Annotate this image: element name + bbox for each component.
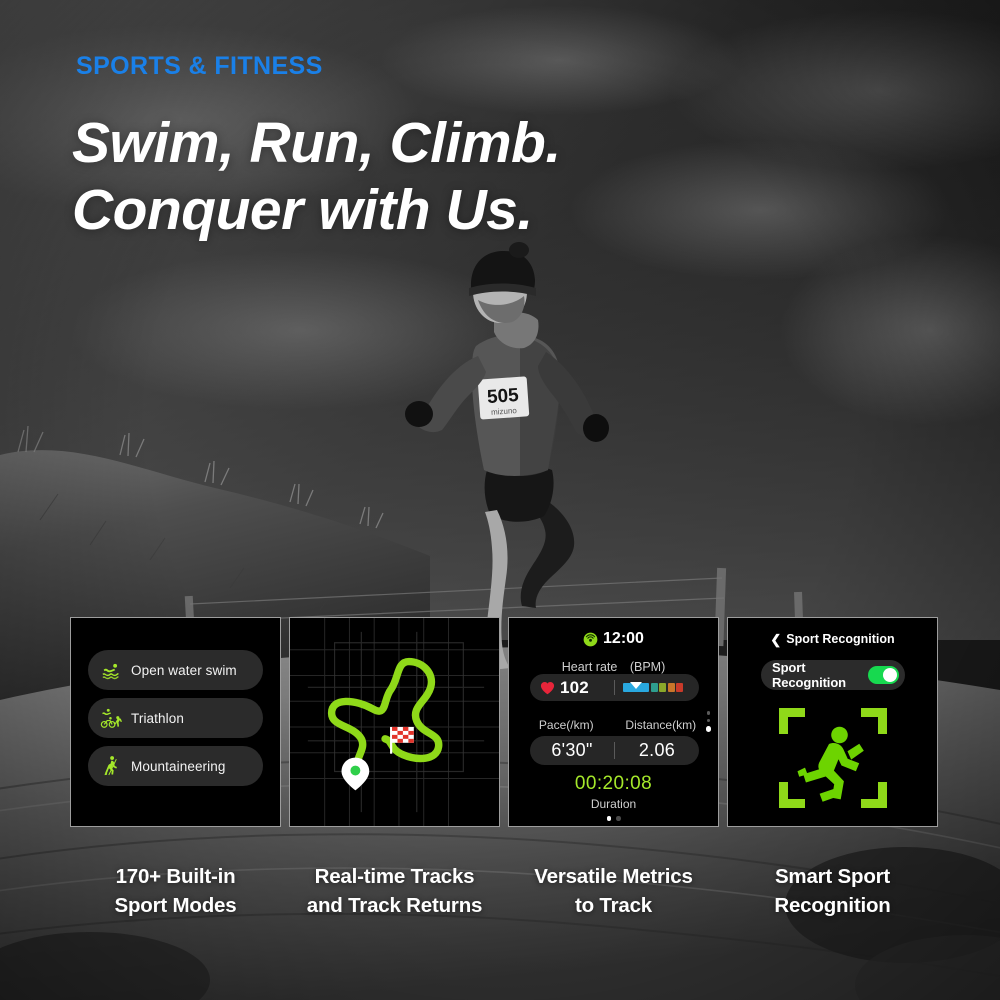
feature-card-row: Open water swim Triathlon	[70, 617, 932, 827]
distance-label: Distance(km)	[614, 718, 709, 732]
setting-label: Sport Recognition	[772, 660, 868, 690]
scroll-dot	[707, 711, 711, 715]
card-sport-recognition: ❮ Sport Recognition Sport Recognition	[727, 617, 938, 827]
gps-track-map[interactable]	[290, 618, 499, 826]
sport-mode-label: Mountaineering	[131, 759, 225, 774]
caption-sport-recognition: Smart Sport Recognition	[727, 862, 938, 920]
mountaineering-icon	[100, 755, 122, 777]
page-dot	[616, 816, 621, 821]
gps-signal-icon	[583, 632, 598, 647]
recognition-artwork	[728, 706, 937, 810]
chevron-left-icon[interactable]: ❮	[770, 633, 781, 646]
clock-value: 12:00	[603, 630, 644, 648]
swimmer-icon	[100, 659, 122, 681]
sport-mode-triathlon[interactable]: Triathlon	[88, 698, 263, 738]
scroll-dot-active	[706, 726, 712, 732]
heart-icon	[540, 681, 555, 695]
hr-zone-5	[676, 683, 683, 692]
toggle-knob	[883, 668, 897, 682]
hr-zone-1-active	[623, 683, 649, 692]
location-pin-icon	[342, 758, 370, 791]
pace-distance-pill[interactable]: 6'30" 2.06	[530, 736, 699, 765]
distance-value: 2.06	[615, 740, 699, 761]
heart-rate-pill[interactable]: 102	[530, 674, 699, 701]
caption-row: 170+ Built-in Sport Modes Real-time Trac…	[70, 862, 932, 920]
screen-header: ❮ Sport Recognition	[728, 632, 937, 646]
watch-statusbar: 12:00	[509, 630, 718, 648]
triathlon-icon	[100, 707, 122, 729]
sport-mode-label: Open water swim	[131, 663, 237, 678]
hr-zone-2	[651, 683, 658, 692]
heart-rate-label: Heart rate (BPM)	[509, 656, 718, 675]
card-realtime-track	[289, 617, 500, 827]
sport-mode-open-water-swim[interactable]: Open water swim	[88, 650, 263, 690]
eyebrow-label: SPORTS & FITNESS	[76, 52, 323, 81]
sport-recognition-toggle[interactable]	[868, 666, 899, 684]
caption-sport-modes: 170+ Built-in Sport Modes	[70, 862, 281, 920]
card-sport-modes: Open water swim Triathlon	[70, 617, 281, 827]
pace-distance-labels: Pace(/km) Distance(km)	[519, 718, 708, 732]
page-dot-active	[607, 816, 612, 821]
sport-mode-label: Triathlon	[131, 711, 184, 726]
scroll-dot	[707, 719, 711, 723]
card-versatile-metrics: 12:00 Heart rate (BPM) 102 Pac	[508, 617, 719, 827]
sport-mode-mountaineering[interactable]: Mountaineering	[88, 746, 263, 786]
pace-label: Pace(/km)	[519, 718, 614, 732]
caption-versatile-metrics: Versatile Metrics to Track	[508, 862, 719, 920]
sport-mode-list: Open water swim Triathlon	[71, 618, 280, 786]
sport-recognition-setting-row[interactable]: Sport Recognition	[761, 660, 905, 690]
caption-realtime-track: Real-time Tracks and Track Returns	[289, 862, 500, 920]
pace-value: 6'30"	[530, 740, 614, 761]
zone-marker-triangle	[630, 682, 642, 689]
duration-value: 00:20:08	[509, 773, 718, 795]
heart-rate-value: 102	[560, 678, 589, 698]
heart-rate-reading: 102	[530, 678, 614, 698]
heart-rate-zone-bar	[615, 683, 683, 692]
hr-zone-4	[668, 683, 675, 692]
hr-zone-3	[659, 683, 666, 692]
page-title: Swim, Run, Climb. Conquer with Us.	[72, 110, 561, 243]
scroll-indicator[interactable]	[706, 711, 712, 732]
page-indicator[interactable]	[509, 816, 718, 821]
duration-label: Duration	[509, 797, 718, 811]
running-person-in-frame-icon	[777, 706, 889, 810]
screen-title: Sport Recognition	[786, 632, 894, 646]
